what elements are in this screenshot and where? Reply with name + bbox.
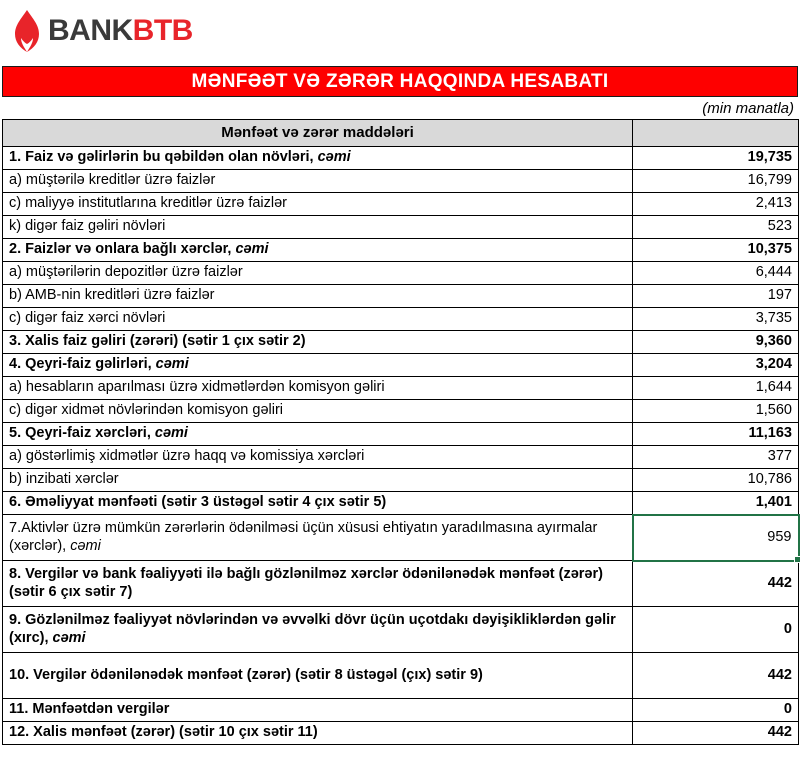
row-label-text: b) AMB-nin kreditləri üzrə faizlər [9,287,215,303]
table-row: 7.Aktivlər üzrə mümkün zərərlərin ödənil… [3,515,799,561]
row-label: a) hesabların aparılması üzrə xidmətlərd… [3,377,633,400]
table-row: c) maliyyə institutlarına kreditlər üzrə… [3,193,799,216]
row-label-text: c) maliyyə institutlarına kreditlər üzrə… [9,195,287,211]
cell-fill-handle[interactable] [794,556,800,563]
row-label: c) digər faiz xərci növləri [3,308,633,331]
row-label-text: 3. Xalis faiz gəliri (zərəri) (sətir 1 ç… [9,333,306,349]
table-row: b) AMB-nin kreditləri üzrə faizlər197 [3,285,799,308]
row-value[interactable]: 442 [633,722,799,745]
row-value-text: 6,444 [756,264,792,280]
row-label-text: 2. Faizlər və onlara bağlı xərclər, [9,241,235,257]
row-value-text: 2,413 [756,195,792,211]
row-value[interactable]: 197 [633,285,799,308]
row-label: 5. Qeyri-faiz xərcləri, cəmi [3,423,633,446]
row-label-text: a) hesabların aparılması üzrə xidmətlərd… [9,379,385,395]
row-label-emphasis: cəmi [156,356,189,372]
table-row: a) göstərlimiş xidmətlər üzrə haqq və ko… [3,446,799,469]
row-value[interactable]: 1,401 [633,492,799,515]
row-value-text: 3,204 [756,356,792,372]
row-label-text: c) digər faiz xərci növləri [9,310,165,326]
row-label-emphasis: cəmi [235,241,268,257]
table-row: 6. Əməliyyat mənfəəti (sətir 3 üstəgəl s… [3,492,799,515]
row-label-text: 8. Vergilər və bank fəaliyyəti ilə bağlı… [9,566,603,599]
flame-icon [12,9,42,53]
row-label-emphasis: cəmi [53,630,86,646]
table-row: a) hesabların aparılması üzrə xidmətlərd… [3,377,799,400]
table-row: b) inzibati xərclər10,786 [3,469,799,492]
row-value[interactable]: 16,799 [633,170,799,193]
row-label: 8. Vergilər və bank fəaliyyəti ilə bağlı… [3,561,633,607]
row-label-text: 5. Qeyri-faiz xərcləri, [9,425,155,441]
page-title: MƏNFƏƏT VƏ ZƏRƏR HAQQINDA HESABATI [191,71,608,93]
table-header-row: Mənfəət və zərər maddələri [3,120,799,147]
table-row: 9. Gözlənilməz fəaliyyət növlərindən və … [3,607,799,653]
row-value[interactable]: 6,444 [633,262,799,285]
table-row: c) digər faiz xərci növləri3,735 [3,308,799,331]
row-value[interactable]: 3,204 [633,354,799,377]
row-label: b) inzibati xərclər [3,469,633,492]
brand-name-bank: BANK [48,14,133,47]
row-value-text: 1,644 [756,379,792,395]
row-value[interactable]: 377 [633,446,799,469]
table-row: 11. Mənfəətdən vergilər0 [3,699,799,722]
table-row: 3. Xalis faiz gəliri (zərəri) (sətir 1 ç… [3,331,799,354]
row-label: 4. Qeyri-faiz gəlirləri, cəmi [3,354,633,377]
row-value[interactable]: 0 [633,699,799,722]
row-label: 7.Aktivlər üzrə mümkün zərərlərin ödənil… [3,515,633,561]
row-value[interactable]: 442 [633,561,799,607]
row-label-text: b) inzibati xərclər [9,471,119,487]
row-value[interactable]: 0 [633,607,799,653]
column-header-items: Mənfəət və zərər maddələri [3,120,633,147]
row-value[interactable]: 442 [633,653,799,699]
row-label: 10. Vergilər ödənilənədək mənfəət (zərər… [3,653,633,699]
row-value[interactable]: 19,735 [633,147,799,170]
row-label: 2. Faizlər və onlara bağlı xərclər, cəmi [3,239,633,262]
table-body: Mənfəət və zərər maddələri 1. Faiz və gə… [3,120,799,745]
row-value-text: 442 [768,667,792,683]
row-value-text: 442 [768,724,792,740]
profit-loss-table: Mənfəət və zərər maddələri 1. Faiz və gə… [2,119,800,745]
table-row: 10. Vergilər ödənilənədək mənfəət (zərər… [3,653,799,699]
row-label: c) digər xidmət növlərindən komisyon gəl… [3,400,633,423]
row-value-text: 1,401 [756,494,792,510]
row-value-text: 442 [768,575,792,591]
row-label: b) AMB-nin kreditləri üzrə faizlər [3,285,633,308]
row-value-text: 10,375 [748,241,792,257]
row-value-text: 19,735 [748,149,792,165]
row-label-text: k) digər faiz gəliri növləri [9,218,165,234]
brand-wordmark: BANKBTB [48,16,193,46]
brand-header: BANKBTB [0,0,800,62]
row-label: a) müştərilə kreditlər üzrə faizlər [3,170,633,193]
row-label: 3. Xalis faiz gəliri (zərəri) (sətir 1 ç… [3,331,633,354]
row-value-text: 377 [768,448,792,464]
table-row: 1. Faiz və gəlirlərin bu qəbildən olan n… [3,147,799,170]
table-row: a) müştərilə kreditlər üzrə faizlər16,79… [3,170,799,193]
row-label: 6. Əməliyyat mənfəəti (sətir 3 üstəgəl s… [3,492,633,515]
report-title-banner: MƏNFƏƏT VƏ ZƏRƏR HAQQINDA HESABATI [2,66,798,97]
row-value-text: 959 [767,529,791,545]
row-label-emphasis: cəmi [70,538,101,554]
row-label-text: 6. Əməliyyat mənfəəti (sətir 3 üstəgəl s… [9,494,386,510]
row-value[interactable]: 1,560 [633,400,799,423]
row-label: a) göstərlimiş xidmətlər üzrə haqq və ko… [3,446,633,469]
table-row: a) müştərilərin depozitlər üzrə faizlər6… [3,262,799,285]
row-label: 1. Faiz və gəlirlərin bu qəbildən olan n… [3,147,633,170]
row-label: 12. Xalis mənfəət (zərər) (sətir 10 çıx … [3,722,633,745]
row-value-text: 1,560 [756,402,792,418]
row-value-text: 9,360 [756,333,792,349]
brand-name-btb: BTB [133,14,193,47]
row-value[interactable]: 523 [633,216,799,239]
units-caption: (min manatla) [702,100,794,117]
column-header-amount [633,120,799,147]
row-value-text: 0 [784,701,792,717]
row-label-text: 11. Mənfəətdən vergilər [9,701,169,717]
row-value-text: 197 [768,287,792,303]
row-label-text: 12. Xalis mənfəət (zərər) (sətir 10 çıx … [9,724,318,740]
table-row: 4. Qeyri-faiz gəlirləri, cəmi3,204 [3,354,799,377]
row-label: 9. Gözlənilməz fəaliyyət növlərindən və … [3,607,633,653]
table-row: 12. Xalis mənfəət (zərər) (sətir 10 çıx … [3,722,799,745]
row-label: a) müştərilərin depozitlər üzrə faizlər [3,262,633,285]
row-value-text: 0 [784,621,792,637]
row-value[interactable]: 2,413 [633,193,799,216]
row-value-selected[interactable]: 959 [633,515,799,561]
row-value-text: 10,786 [748,471,792,487]
row-value-text: 11,163 [748,425,792,441]
row-label-emphasis: cəmi [155,425,188,441]
units-caption-row: (min manatla) [0,97,800,119]
row-value[interactable]: 1,644 [633,377,799,400]
row-value-text: 523 [768,218,792,234]
row-label-text: a) müştərilə kreditlər üzrə faizlər [9,172,215,188]
row-label: 11. Mənfəətdən vergilər [3,699,633,722]
table-row: k) digər faiz gəliri növləri523 [3,216,799,239]
row-label-text: a) göstərlimiş xidmətlər üzrə haqq və ko… [9,448,364,464]
row-label-text: a) müştərilərin depozitlər üzrə faizlər [9,264,243,280]
row-value-text: 3,735 [756,310,792,326]
row-label: c) maliyyə institutlarına kreditlər üzrə… [3,193,633,216]
row-value-text: 16,799 [748,172,792,188]
row-label: k) digər faiz gəliri növləri [3,216,633,239]
table-row: 2. Faizlər və onlara bağlı xərclər, cəmi… [3,239,799,262]
table-row: 5. Qeyri-faiz xərcləri, cəmi11,163 [3,423,799,446]
row-label-text: 1. Faiz və gəlirlərin bu qəbildən olan n… [9,149,318,165]
row-value[interactable]: 3,735 [633,308,799,331]
row-label-text: c) digər xidmət növlərindən komisyon gəl… [9,402,283,418]
row-label-emphasis: cəmi [318,149,351,165]
row-value[interactable]: 11,163 [633,423,799,446]
row-label-text: 4. Qeyri-faiz gəlirləri, [9,356,156,372]
row-value[interactable]: 10,375 [633,239,799,262]
row-value[interactable]: 9,360 [633,331,799,354]
table-row: 8. Vergilər və bank fəaliyyəti ilə bağlı… [3,561,799,607]
row-label-text: 9. Gözlənilməz fəaliyyət növlərindən və … [9,612,616,645]
row-label-text: 10. Vergilər ödənilənədək mənfəət (zərər… [9,667,483,683]
table-row: c) digər xidmət növlərindən komisyon gəl… [3,400,799,423]
row-value[interactable]: 10,786 [633,469,799,492]
